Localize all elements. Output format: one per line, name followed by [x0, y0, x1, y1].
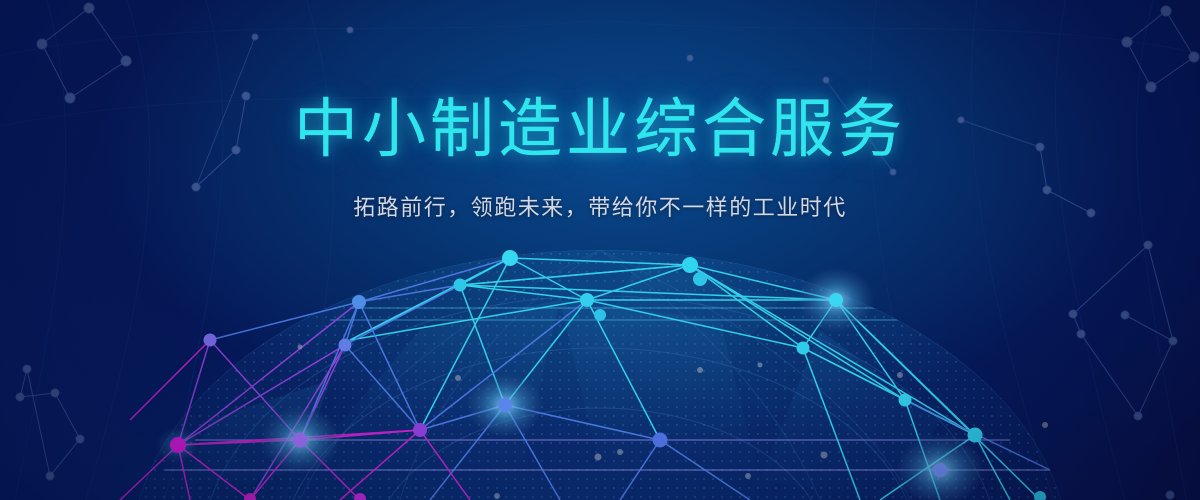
background-vignette — [0, 0, 1200, 500]
hero-banner: 中小制造业综合服务 拓路前行，领跑未来，带给你不一样的工业时代 — [0, 0, 1200, 500]
